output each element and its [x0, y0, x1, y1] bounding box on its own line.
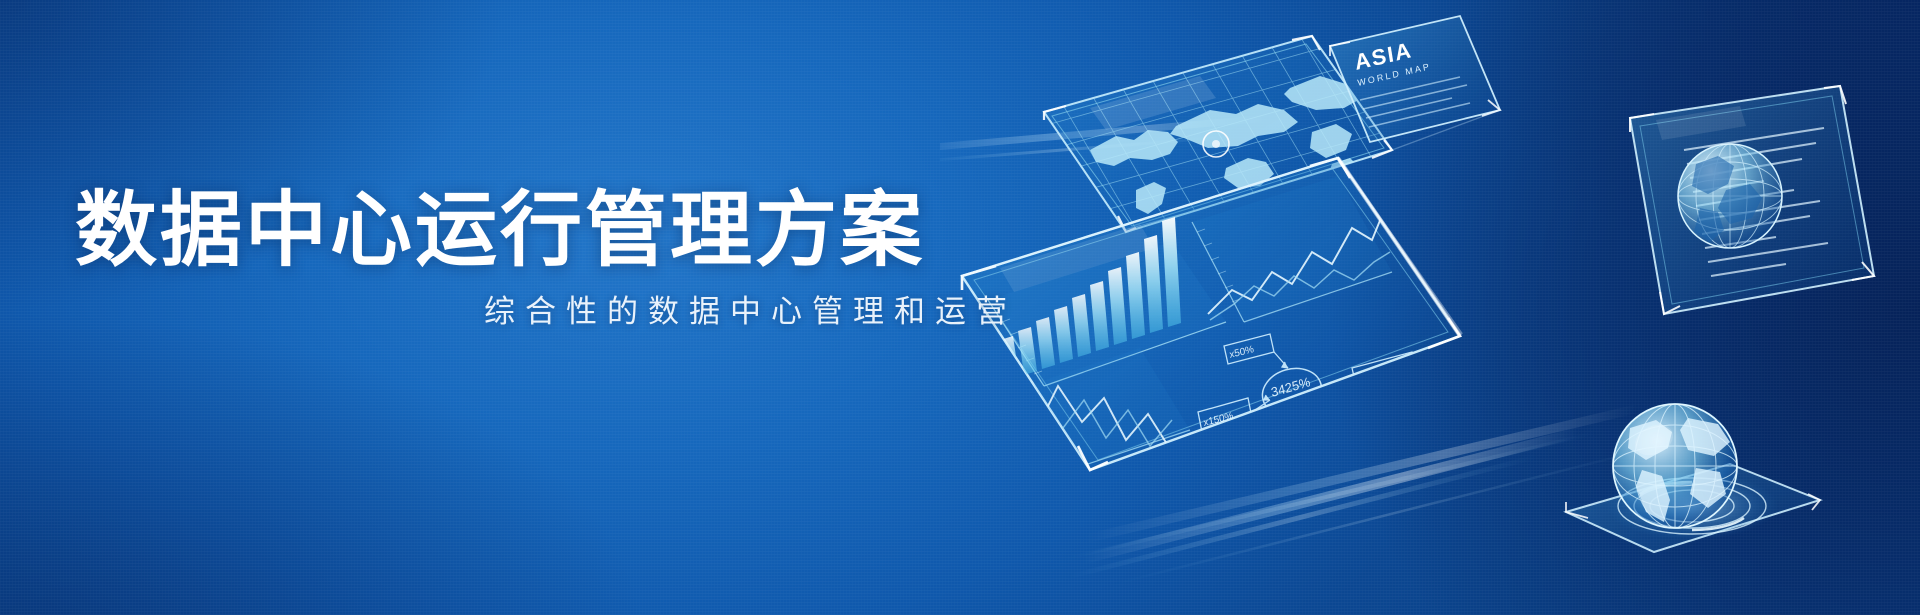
banner-root: ASIA WORLD MAP	[0, 0, 1920, 615]
page-title: 数据中心运行管理方案	[75, 188, 1025, 275]
page-subtitle: 综合性的数据中心管理和运营	[75, 293, 1025, 330]
banner-text-block: 数据中心运行管理方案 综合性的数据中心管理和运营	[75, 188, 1025, 330]
